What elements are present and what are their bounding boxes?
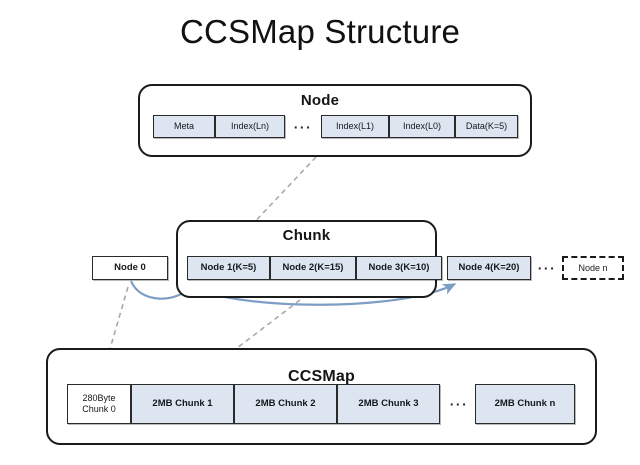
node-segment-index-ln: Index(Ln) bbox=[215, 115, 285, 138]
chunk-node-2: Node 2(K=15) bbox=[270, 256, 356, 280]
chunk-nodes-ellipsis: ··· bbox=[534, 256, 560, 280]
diagram-canvas: CCSMap Structure Node Meta Index(Ln) ···… bbox=[0, 0, 640, 465]
node-segment-meta: Meta bbox=[153, 115, 215, 138]
ccsmap-chunk-0: 280Byte Chunk 0 bbox=[67, 384, 131, 424]
node-group-title: Node bbox=[0, 92, 640, 109]
chunk-node-4: Node 4(K=20) bbox=[447, 256, 531, 280]
ccsmap-chunk-n: 2MB Chunk n bbox=[475, 384, 575, 424]
chunk-node-0: Node 0 bbox=[92, 256, 168, 280]
ccsmap-chunk-0-name: Chunk 0 bbox=[82, 404, 116, 415]
node-segments-ellipsis: ··· bbox=[285, 115, 321, 138]
page-title: CCSMap Structure bbox=[0, 13, 640, 51]
node-segment-data: Data(K=5) bbox=[455, 115, 518, 138]
ccsmap-chunk-2: 2MB Chunk 2 bbox=[234, 384, 337, 424]
ccsmap-chunks-ellipsis: ··· bbox=[443, 384, 475, 424]
ccsmap-chunk-1: 2MB Chunk 1 bbox=[131, 384, 234, 424]
chunk-node-3: Node 3(K=10) bbox=[356, 256, 442, 280]
ccsmap-chunk-3: 2MB Chunk 3 bbox=[337, 384, 440, 424]
node-segment-index-l1: Index(L1) bbox=[321, 115, 389, 138]
chunk-node-n: Node n bbox=[562, 256, 624, 280]
chunk-node-1: Node 1(K=5) bbox=[187, 256, 270, 280]
node-segment-index-l0: Index(L0) bbox=[389, 115, 455, 138]
chunk-group-title: Chunk bbox=[176, 227, 437, 244]
ccsmap-chunk-0-size: 280Byte bbox=[82, 393, 115, 404]
